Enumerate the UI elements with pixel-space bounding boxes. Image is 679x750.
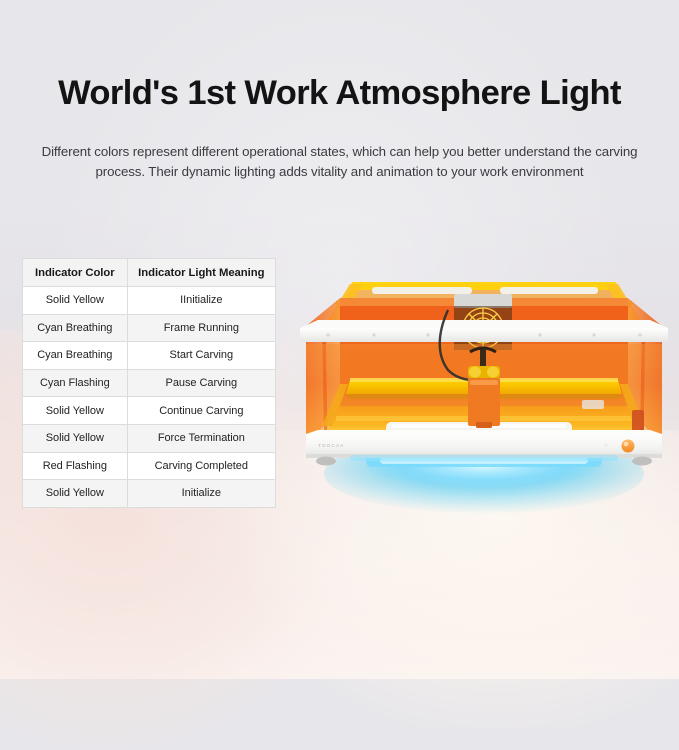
- table-row: Solid Yellow IInitialize: [23, 287, 276, 315]
- table-row: Red Flashing Carving Completed: [23, 452, 276, 480]
- top-structural-rail: [300, 320, 668, 342]
- table-row: Solid Yellow Force Termination: [23, 424, 276, 452]
- brand-label: TOOCAA: [318, 443, 345, 448]
- foot-right: [632, 457, 652, 466]
- table-row: Solid Yellow Initialize: [23, 480, 276, 508]
- cell-indicator-color: Solid Yellow: [23, 424, 128, 452]
- page-title: World's 1st Work Atmosphere Light: [0, 76, 679, 111]
- laser-module: [468, 378, 500, 426]
- table-row: Cyan Flashing Pause Carving: [23, 369, 276, 397]
- indicator-light-table: Indicator Color Indicator Light Meaning …: [22, 258, 276, 508]
- cell-indicator-color: Solid Yellow: [23, 287, 128, 315]
- cell-indicator-color: Cyan Breathing: [23, 342, 128, 370]
- cell-indicator-meaning: Frame Running: [127, 314, 275, 342]
- foot-left: [316, 457, 336, 466]
- status-led: [604, 443, 608, 447]
- cell-indicator-meaning: Initialize: [127, 480, 275, 508]
- column-header-indicator-meaning: Indicator Light Meaning: [127, 259, 275, 287]
- page-subtitle: Different colors represent different ope…: [36, 142, 643, 182]
- cell-indicator-meaning: Carving Completed: [127, 452, 275, 480]
- laser-engraver-image: TOOCAA: [288, 258, 679, 520]
- cell-indicator-color: Red Flashing: [23, 452, 128, 480]
- cell-indicator-meaning: Start Carving: [127, 342, 275, 370]
- column-header-indicator-color: Indicator Color: [23, 259, 128, 287]
- table-row: Cyan Breathing Start Carving: [23, 342, 276, 370]
- cell-indicator-color: Solid Yellow: [23, 397, 128, 425]
- cell-indicator-meaning: Continue Carving: [127, 397, 275, 425]
- cell-indicator-meaning: IInitialize: [127, 287, 275, 315]
- table-header-row: Indicator Color Indicator Light Meaning: [23, 259, 276, 287]
- base-chassis: TOOCAA: [306, 430, 662, 458]
- table-header: Indicator Color Indicator Light Meaning: [23, 259, 276, 287]
- table-row: Solid Yellow Continue Carving: [23, 397, 276, 425]
- cell-indicator-meaning: Pause Carving: [127, 369, 275, 397]
- cell-indicator-color: Solid Yellow: [23, 480, 128, 508]
- table-body: Solid Yellow IInitialize Cyan Breathing …: [23, 287, 276, 508]
- cell-indicator-meaning: Force Termination: [127, 424, 275, 452]
- cell-indicator-color: Cyan Breathing: [23, 314, 128, 342]
- cell-indicator-color: Cyan Flashing: [23, 369, 128, 397]
- power-button[interactable]: [622, 440, 635, 453]
- table-row: Cyan Breathing Frame Running: [23, 314, 276, 342]
